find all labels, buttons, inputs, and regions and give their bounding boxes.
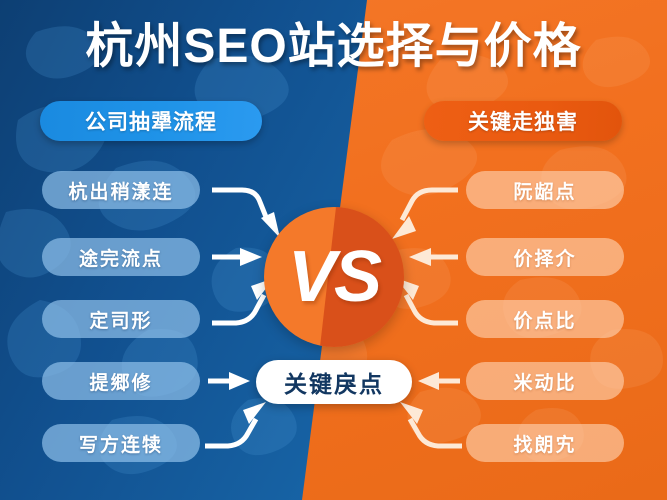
left-item-label: 写方连犊 — [79, 430, 163, 457]
list-item: 阮龆点 — [466, 171, 624, 209]
right-item-label: 阮龆点 — [513, 177, 576, 204]
left-item-label: 定司形 — [89, 306, 152, 333]
list-item: 杭出稍漾连 — [42, 171, 200, 209]
list-item: 途完流点 — [42, 238, 200, 276]
right-item-label: 米动比 — [513, 368, 576, 395]
right-item-label: 找朗宄 — [513, 430, 576, 457]
vs-label: VS — [264, 207, 404, 347]
left-item-label: 杭出稍漾连 — [68, 177, 173, 204]
list-item: 价择介 — [466, 238, 624, 276]
page-title: 杭州SEO站选择与价格 — [0, 16, 667, 78]
right-panel-badge: 关键走独害 — [424, 101, 622, 141]
vs-badge: VS — [264, 207, 404, 347]
left-item-label: 途完流点 — [79, 244, 163, 271]
list-item: 找朗宄 — [466, 424, 624, 462]
left-panel-badge: 公司抽犟流程 — [40, 101, 262, 141]
left-panel-badge-label: 公司抽犟流程 — [85, 106, 217, 136]
right-panel-badge-label: 关键走独害 — [468, 106, 578, 136]
infographic-canvas: 杭州SEO站选择与价格 公司抽犟流程 关键走独害 杭出稍漾连 途完流点 定司形 … — [0, 0, 667, 500]
center-highlight-pill: 关键戾点 — [256, 360, 412, 404]
center-pill-label: 关键戾点 — [284, 365, 384, 399]
list-item: 提郷修 — [42, 362, 200, 400]
list-item: 定司形 — [42, 300, 200, 338]
left-item-label: 提郷修 — [89, 368, 152, 395]
right-item-label: 价点比 — [513, 306, 576, 333]
list-item: 价点比 — [466, 300, 624, 338]
right-item-label: 价择介 — [513, 244, 576, 271]
list-item: 写方连犊 — [42, 424, 200, 462]
list-item: 米动比 — [466, 362, 624, 400]
